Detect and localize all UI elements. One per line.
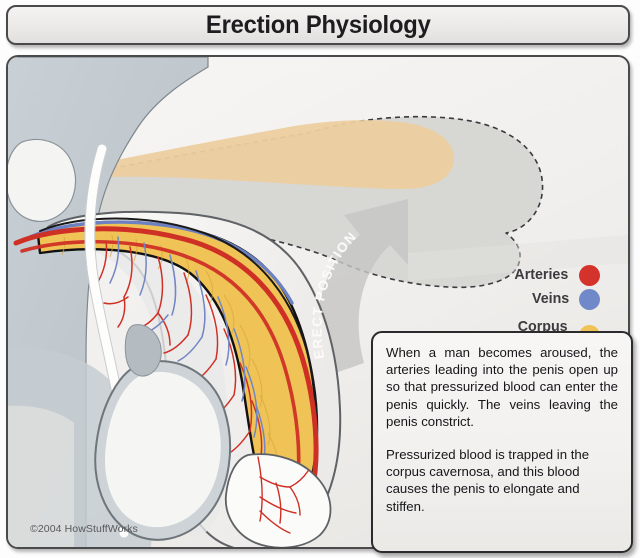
legend-label-arteries: Arteries bbox=[515, 267, 569, 283]
callout-paragraph-1: When a man becomes aroused, the arteries… bbox=[386, 344, 618, 430]
page-title: Erection Physiology bbox=[206, 11, 431, 40]
legend-item-veins: Veins bbox=[430, 289, 600, 310]
legend-item-arteries: Arteries bbox=[430, 265, 600, 286]
title-panel: Erection Physiology bbox=[6, 5, 630, 45]
copyright-notice: ©2004 HowStuffWorks bbox=[30, 523, 138, 535]
screenshot-root: Erection Physiology bbox=[0, 0, 640, 558]
callout-paragraph-2: Pressurized blood is trapped in the corp… bbox=[386, 446, 618, 515]
legend-swatch-arteries bbox=[579, 265, 600, 286]
description-callout: When a man becomes aroused, the arteries… bbox=[371, 331, 633, 553]
legend-swatch-veins bbox=[579, 289, 600, 310]
testis bbox=[95, 361, 230, 540]
legend-label-veins: Veins bbox=[532, 291, 569, 307]
